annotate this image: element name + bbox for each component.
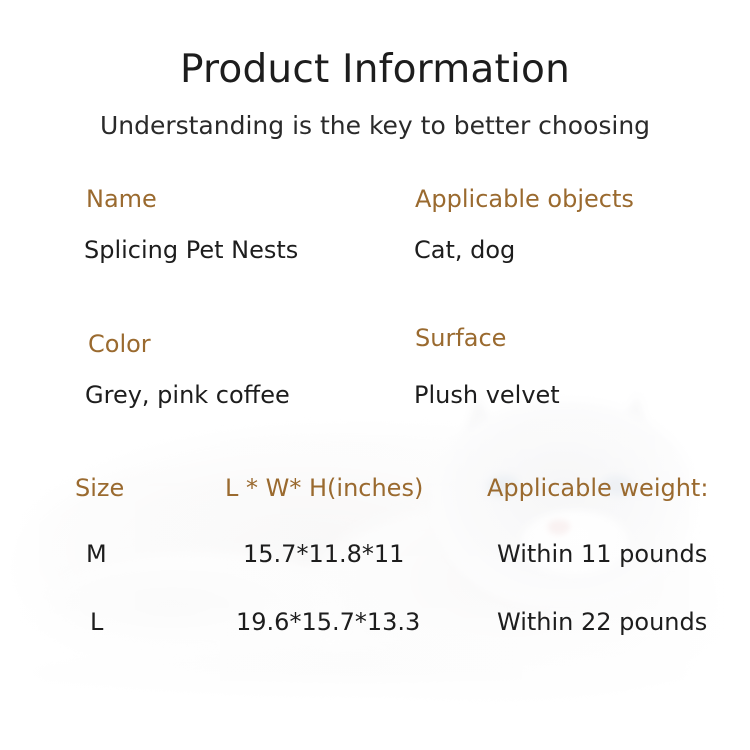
spec-label-name: Name xyxy=(86,185,157,213)
size-table-row-m-weight: Within 11 pounds xyxy=(497,540,707,568)
content-layer: Product Information Understanding is the… xyxy=(0,0,750,750)
product-information-page: Product Information Understanding is the… xyxy=(0,0,750,750)
size-table-header-weight: Applicable weight: xyxy=(487,474,708,502)
page-title: Product Information xyxy=(0,47,750,92)
spec-label-color: Color xyxy=(88,330,151,358)
spec-label-surface: Surface xyxy=(415,324,506,352)
spec-value-applicable-objects: Cat, dog xyxy=(414,236,515,264)
spec-value-color: Grey, pink coffee xyxy=(85,381,290,409)
spec-value-surface: Plush velvet xyxy=(414,381,560,409)
size-table-row-l-size: L xyxy=(90,608,103,636)
size-table-row-m-dimensions: 15.7*11.8*11 xyxy=(243,540,404,568)
size-table-header-size: Size xyxy=(75,474,124,502)
size-table-row-l-dimensions: 19.6*15.7*13.3 xyxy=(236,608,420,636)
page-subtitle: Understanding is the key to better choos… xyxy=(0,111,750,140)
size-table-row-l-weight: Within 22 pounds xyxy=(497,608,707,636)
spec-value-name: Splicing Pet Nests xyxy=(84,236,298,264)
size-table-header-dimensions: L * W* H(inches) xyxy=(225,474,423,502)
size-table-row-m-size: M xyxy=(86,540,107,568)
spec-label-applicable-objects: Applicable objects xyxy=(415,185,634,213)
